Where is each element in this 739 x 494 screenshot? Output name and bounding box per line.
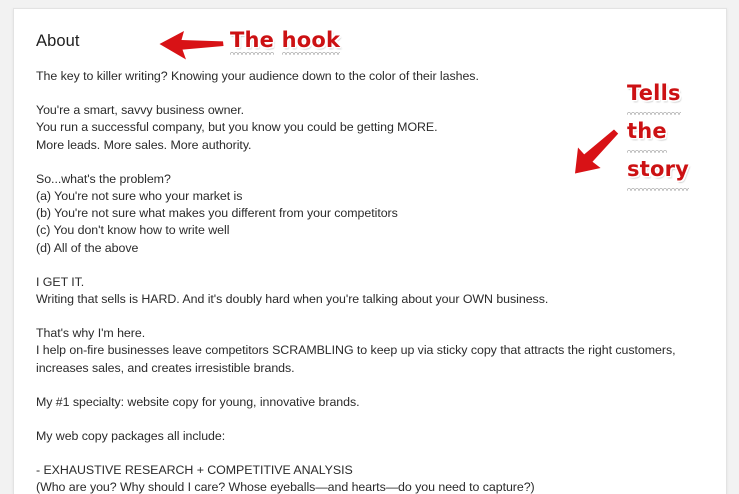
annotation-line: story <box>627 150 689 188</box>
paragraph-why-here: That's why I'm here. I help on-fire busi… <box>36 325 676 377</box>
text-line: So...what's the problem? <box>36 171 676 188</box>
annotation-word: story <box>627 150 689 188</box>
text-line: That's why I'm here. <box>36 325 676 342</box>
annotation-word: hook <box>282 28 341 52</box>
annotation-word: the <box>627 112 667 150</box>
text-line: My web copy packages all include: <box>36 428 676 445</box>
list-item: (c) You don't know how to write well <box>36 222 676 239</box>
text-line: (Who are you? Why should I care? Whose e… <box>36 479 676 494</box>
paragraph-specialty: My #1 specialty: website copy for young,… <box>36 394 676 411</box>
paragraph-get-it: I GET IT. Writing that sells is HARD. An… <box>36 274 676 308</box>
paragraph-research: - EXHAUSTIVE RESEARCH + COMPETITIVE ANAL… <box>36 462 676 494</box>
page-title: About <box>36 31 712 51</box>
paragraph-problem: So...what's the problem? (a) You're not … <box>36 171 676 257</box>
text-line: My #1 specialty: website copy for young,… <box>36 394 676 411</box>
annotation-word: The <box>230 28 274 52</box>
annotation-word: Tells <box>627 74 681 112</box>
page-root: About The key to killer writing? Knowing… <box>0 0 739 488</box>
annotation-line: Tells <box>627 74 689 112</box>
list-item: (a) You're not sure who your market is <box>36 188 676 205</box>
text-line: Writing that sells is HARD. And it's dou… <box>36 291 676 308</box>
text-line: - EXHAUSTIVE RESEARCH + COMPETITIVE ANAL… <box>36 462 676 479</box>
text-line: More leads. More sales. More authority. <box>36 137 676 154</box>
annotation-line: the <box>627 112 689 150</box>
paragraph-owner: You're a smart, savvy business owner. Yo… <box>36 102 676 154</box>
about-card-content: About The key to killer writing? Knowing… <box>36 31 712 494</box>
text-line: You run a successful company, but you kn… <box>36 119 676 136</box>
paragraph-intro: The key to killer writing? Knowing your … <box>36 68 676 85</box>
text-line: The key to killer writing? Knowing your … <box>36 68 676 85</box>
about-body: The key to killer writing? Knowing your … <box>36 68 712 494</box>
annotation-the-hook: The hook <box>230 28 340 52</box>
list-item: (d) All of the above <box>36 240 676 257</box>
annotation-tells-the-story: Tells the story <box>627 74 689 188</box>
text-line: You're a smart, savvy business owner. <box>36 102 676 119</box>
list-item: (b) You're not sure what makes you diffe… <box>36 205 676 222</box>
text-line: I GET IT. <box>36 274 676 291</box>
about-card: About The key to killer writing? Knowing… <box>13 8 727 494</box>
text-line: I help on-fire businesses leave competit… <box>36 342 676 376</box>
paragraph-packages-intro: My web copy packages all include: <box>36 428 676 445</box>
